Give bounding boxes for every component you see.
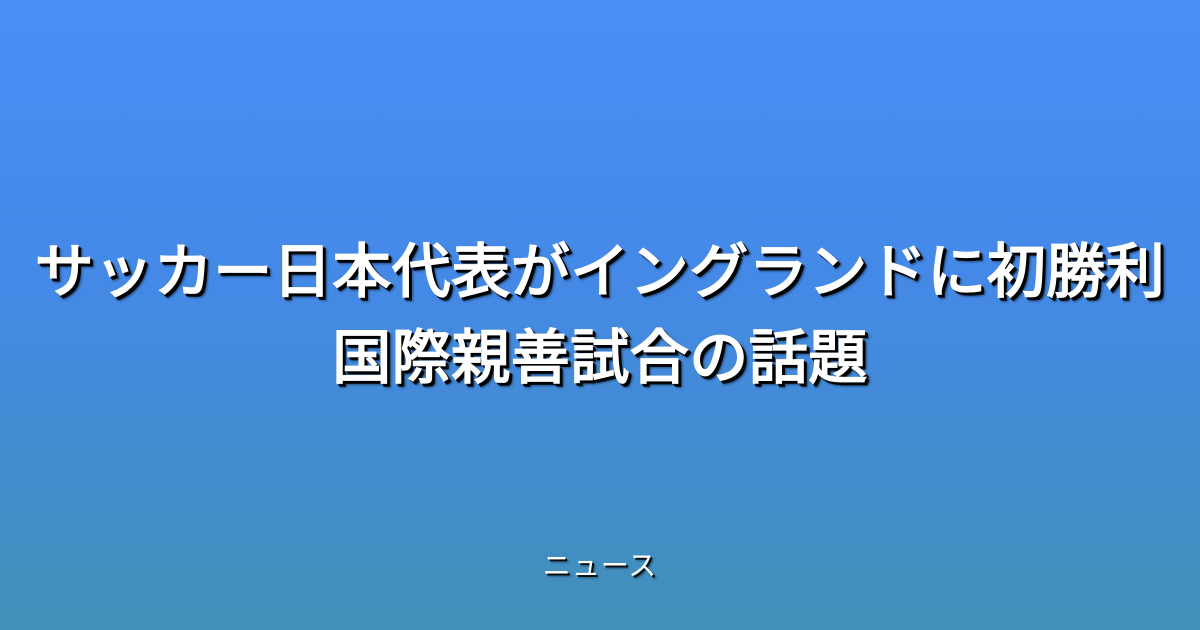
news-share-card: サッカー日本代表がイングランドに初勝利 国際親善試合の話題 ニュース bbox=[0, 0, 1200, 630]
category-label-text: ニュース bbox=[543, 550, 658, 581]
page-title: サッカー日本代表がイングランドに初勝利 国際親善試合の話題 bbox=[0, 229, 1200, 401]
title-line-2: 国際親善試合の話題 bbox=[16, 315, 1184, 401]
category-label: ニュース bbox=[0, 548, 1200, 584]
title-line-1: サッカー日本代表がイングランドに初勝利 bbox=[16, 229, 1184, 315]
